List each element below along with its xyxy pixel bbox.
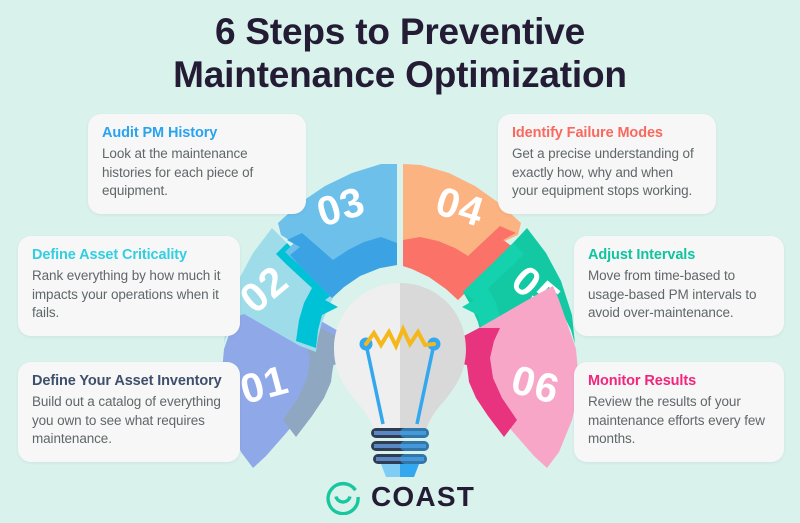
step-card-03[interactable]: Audit PM History Look at the maintenance…: [88, 114, 306, 214]
step-card-03-body: Look at the maintenance histories for ea…: [102, 145, 292, 201]
coast-logo-text: COAST: [371, 481, 475, 513]
step-card-02[interactable]: Define Asset Criticality Rank everything…: [18, 236, 240, 336]
step-card-05[interactable]: Adjust Intervals Move from time-based to…: [574, 236, 784, 336]
coast-circle-icon: [325, 479, 361, 515]
step-card-01-heading: Define Your Asset Inventory: [32, 373, 226, 390]
bulb-glass-right: [400, 283, 466, 437]
step-card-01-body: Build out a catalog of everything you ow…: [32, 393, 226, 449]
step-card-04-heading: Identify Failure Modes: [512, 125, 702, 142]
wheel-segment-06[interactable]: 06: [448, 286, 578, 468]
coast-logo: COAST: [0, 479, 800, 515]
step-card-05-heading: Adjust Intervals: [588, 247, 770, 264]
lightbulb-icon: [334, 283, 466, 477]
step-card-01[interactable]: Define Your Asset Inventory Build out a …: [18, 362, 240, 462]
infographic-canvas: 6 Steps to Preventive Maintenance Optimi…: [0, 0, 800, 523]
step-card-06-heading: Monitor Results: [588, 373, 770, 390]
bulb-base: [371, 428, 429, 477]
step-card-04-body: Get a precise understanding of exactly h…: [512, 145, 702, 201]
step-card-06-body: Review the results of your maintenance e…: [588, 393, 770, 449]
step-card-04[interactable]: Identify Failure Modes Get a precise und…: [498, 114, 716, 214]
step-card-06[interactable]: Monitor Results Review the results of yo…: [574, 362, 784, 462]
step-card-02-body: Rank everything by how much it impacts y…: [32, 267, 226, 323]
step-card-02-heading: Define Asset Criticality: [32, 247, 226, 264]
step-card-03-heading: Audit PM History: [102, 125, 292, 142]
bulb-glass-left: [334, 283, 400, 437]
step-card-05-body: Move from time-based to usage-based PM i…: [588, 267, 770, 323]
